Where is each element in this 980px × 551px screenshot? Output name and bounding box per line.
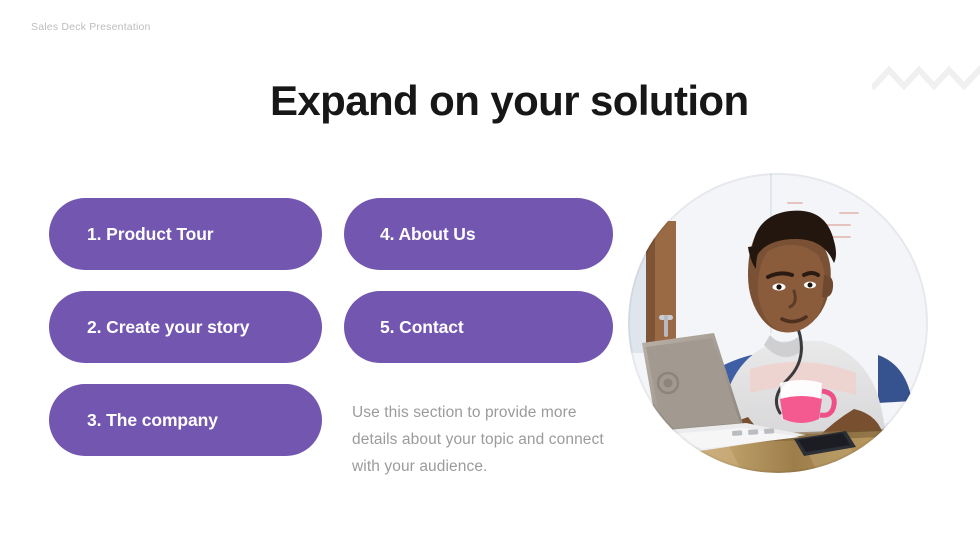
agenda-item-2[interactable]: 2. Create your story — [49, 291, 322, 363]
agenda-item-1[interactable]: 1. Product Tour — [49, 198, 322, 270]
agenda-item-5[interactable]: 5. Contact — [344, 291, 613, 363]
agenda-item-3[interactable]: 3. The company — [49, 384, 322, 456]
agenda-item-1-label: 1. Product Tour — [49, 224, 214, 245]
agenda-item-5-label: 5. Contact — [344, 317, 464, 338]
slide-canvas: Sales Deck Presentation Expand on your s… — [0, 0, 980, 551]
agenda-item-3-label: 3. The company — [49, 410, 218, 431]
page-title: Expand on your solution — [270, 78, 749, 124]
zigzag-decoration-icon — [872, 58, 980, 92]
agenda-item-2-label: 2. Create your story — [49, 317, 249, 338]
agenda-item-4-label: 4. About Us — [344, 224, 475, 245]
agenda-item-4[interactable]: 4. About Us — [344, 198, 613, 270]
body-paragraph: Use this section to provide more details… — [352, 399, 614, 480]
photo-circle — [628, 173, 928, 473]
deck-label: Sales Deck Presentation — [31, 21, 151, 33]
